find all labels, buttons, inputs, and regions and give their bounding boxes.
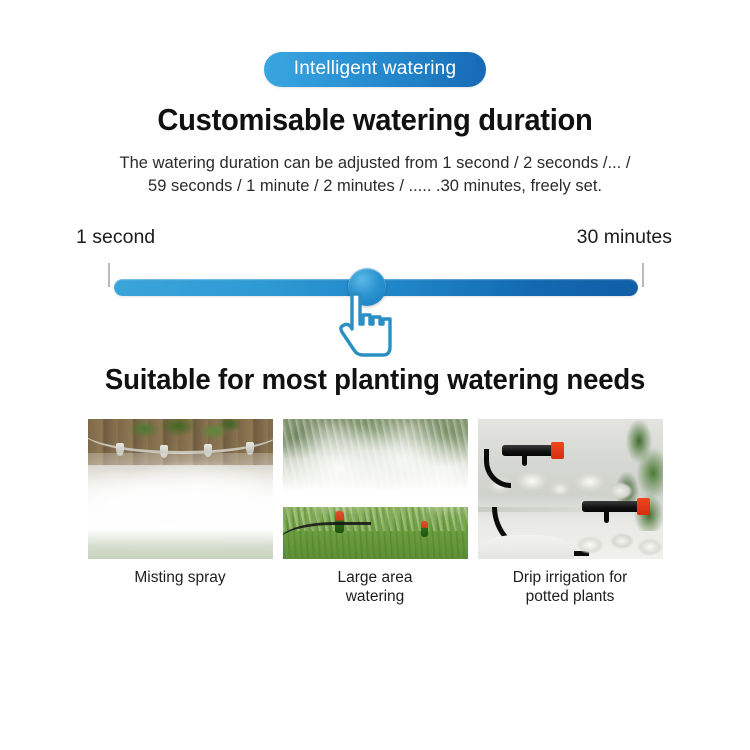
ground-foliage (88, 529, 273, 559)
sprinkler-spray (283, 419, 468, 531)
card-caption: Large area watering (283, 568, 468, 608)
duration-description: The watering duration can be adjusted fr… (55, 152, 695, 198)
drip-nozzle-tip (637, 498, 650, 515)
sprinkler-head-icon (421, 521, 428, 537)
card-caption-line1: Large area (338, 569, 413, 586)
plant-pot (478, 535, 574, 559)
large-area-watering-photo (283, 419, 468, 559)
drip-nozzle-icon (582, 501, 640, 512)
section-title-suitable-uses: Suitable for most planting watering need… (19, 364, 732, 397)
pointing-hand-cursor-icon (332, 288, 394, 360)
card-caption-line1: Misting spray (134, 569, 225, 586)
use-case-card-row: Misting spray Large area watering (0, 419, 750, 608)
card-caption-line2: watering (346, 588, 405, 605)
card-caption-line2: potted plants (526, 588, 615, 605)
use-case-card: Large area watering (283, 419, 468, 608)
product-infographic-page: Intelligent watering Customisable wateri… (0, 0, 750, 750)
card-caption: Drip irrigation for potted plants (478, 568, 663, 608)
page-title-customisable-duration: Customisable watering duration (23, 102, 728, 138)
white-pebbles (574, 531, 663, 557)
duration-description-line1: The watering duration can be adjusted fr… (120, 154, 631, 172)
drip-irrigation-photo (478, 419, 663, 559)
misting-spray-photo (88, 419, 273, 559)
use-case-card: Misting spray (88, 419, 273, 608)
slider-min-label: 1 second (76, 226, 155, 249)
slider-tick-left (108, 263, 110, 287)
card-caption-line1: Drip irrigation for (513, 569, 628, 586)
duration-slider-widget[interactable]: 1 second 30 minutes (70, 226, 680, 336)
slider-max-label: 30 minutes (577, 226, 672, 249)
drip-stem (522, 453, 527, 466)
slider-label-row: 1 second 30 minutes (70, 226, 680, 249)
card-caption: Misting spray (88, 568, 273, 588)
intelligent-watering-badge: Intelligent watering (264, 52, 486, 87)
slider-tick-right (642, 263, 644, 287)
duration-description-line2: 59 seconds / 1 minute / 2 minutes / ....… (148, 177, 602, 195)
badge-row: Intelligent watering (0, 0, 750, 87)
drip-stem (604, 509, 609, 523)
use-case-card: Drip irrigation for potted plants (478, 419, 663, 608)
drip-nozzle-tip (551, 442, 564, 459)
